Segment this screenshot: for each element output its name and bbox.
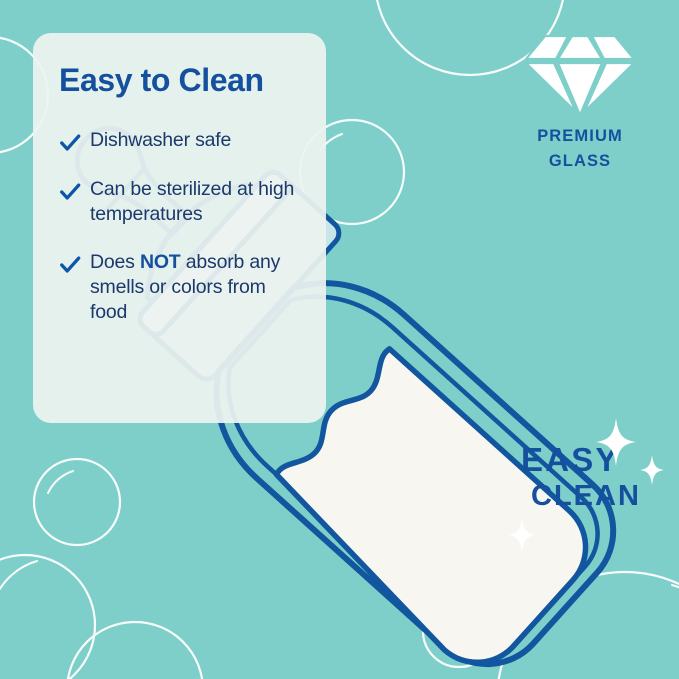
badge-line-2: GLASS	[505, 152, 655, 171]
check-icon	[59, 132, 81, 154]
feature-card: Easy to Clean Dishwasher safe Can be ste…	[33, 33, 326, 423]
check-icon	[59, 254, 81, 276]
sparkle-icon-large	[596, 418, 636, 466]
feature-label: Does NOT absorb any smells or colors fro…	[90, 250, 304, 325]
feature-label: Dishwasher safe	[90, 128, 231, 153]
infographic-canvas: Easy to Clean Dishwasher safe Can be ste…	[0, 0, 679, 679]
feature-item-dishwasher: Dishwasher safe	[59, 128, 304, 154]
feature-text-before: Does	[90, 251, 140, 273]
premium-glass-badge: PREMIUM GLASS	[505, 32, 655, 171]
feature-item-no-absorb: Does NOT absorb any smells or colors fro…	[59, 250, 304, 325]
feature-item-sterilize: Can be sterilized at high temperatures	[59, 177, 304, 227]
sparkle-icon-small	[640, 455, 664, 485]
feature-label: Can be sterilized at high temperatures	[90, 177, 304, 227]
sparkle-icon-medium	[508, 518, 536, 552]
page-title: Easy to Clean	[59, 63, 304, 98]
check-icon	[59, 181, 81, 203]
badge-line-1: PREMIUM	[505, 127, 655, 146]
feature-emphasis-not: NOT	[140, 251, 181, 273]
diamond-icon	[524, 32, 636, 116]
wordmark-line-2: CLEAN	[531, 482, 641, 511]
